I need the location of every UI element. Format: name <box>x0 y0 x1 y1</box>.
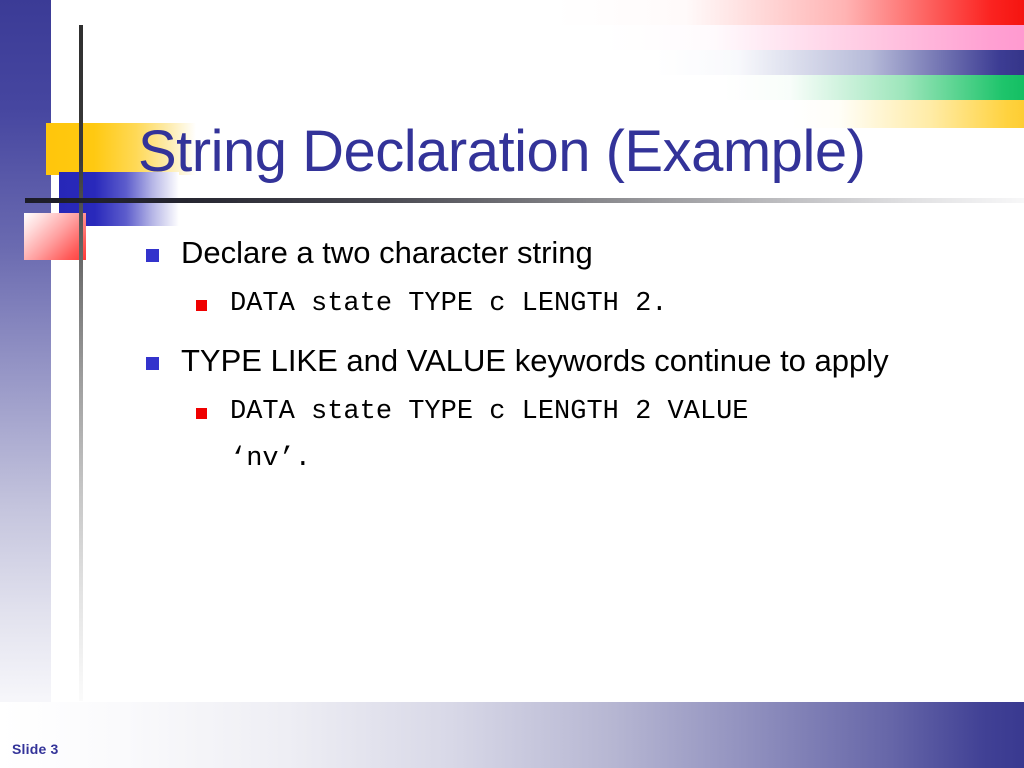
slide-body: Declare a two character string DATA stat… <box>140 228 990 487</box>
bottom-gradient-band <box>0 702 1024 768</box>
top-bar-blue-icon <box>656 50 1024 75</box>
slide-canvas: String Declaration (Example) Declare a t… <box>0 0 1024 768</box>
bullet-level1-item: TYPE LIKE and VALUE keywords continue to… <box>140 336 990 385</box>
left-gradient-band <box>0 0 51 768</box>
top-bar-red-icon <box>554 0 1024 25</box>
square-bullet-blue-icon <box>146 249 159 262</box>
bullet-level1-text: TYPE LIKE and VALUE keywords continue to… <box>181 343 889 378</box>
bullet-level1-item: Declare a two character string <box>140 228 990 277</box>
vertical-rule <box>79 25 83 701</box>
bullet-level2-item: DATA state TYPE c LENGTH 2. <box>140 281 990 328</box>
slide-number-label: Slide 3 <box>12 741 59 757</box>
decor-red-block <box>24 213 86 260</box>
square-bullet-red-icon <box>196 300 207 311</box>
bullet-level2-item: DATA state TYPE c LENGTH 2 VALUE ‘nv’. <box>140 389 990 483</box>
slide-title: String Declaration (Example) <box>138 118 968 186</box>
bullet-level1-text: Declare a two character string <box>181 235 593 270</box>
code-line: DATA state TYPE c LENGTH 2 VALUE <box>230 389 990 436</box>
square-bullet-red-icon <box>196 408 207 419</box>
code-line: DATA state TYPE c LENGTH 2. <box>230 281 990 328</box>
top-bar-green-icon <box>724 75 1024 100</box>
top-bar-pink-icon <box>604 25 1024 50</box>
code-line-continuation: ‘nv’. <box>230 436 990 483</box>
square-bullet-blue-icon <box>146 357 159 370</box>
horizontal-rule <box>25 198 1024 203</box>
